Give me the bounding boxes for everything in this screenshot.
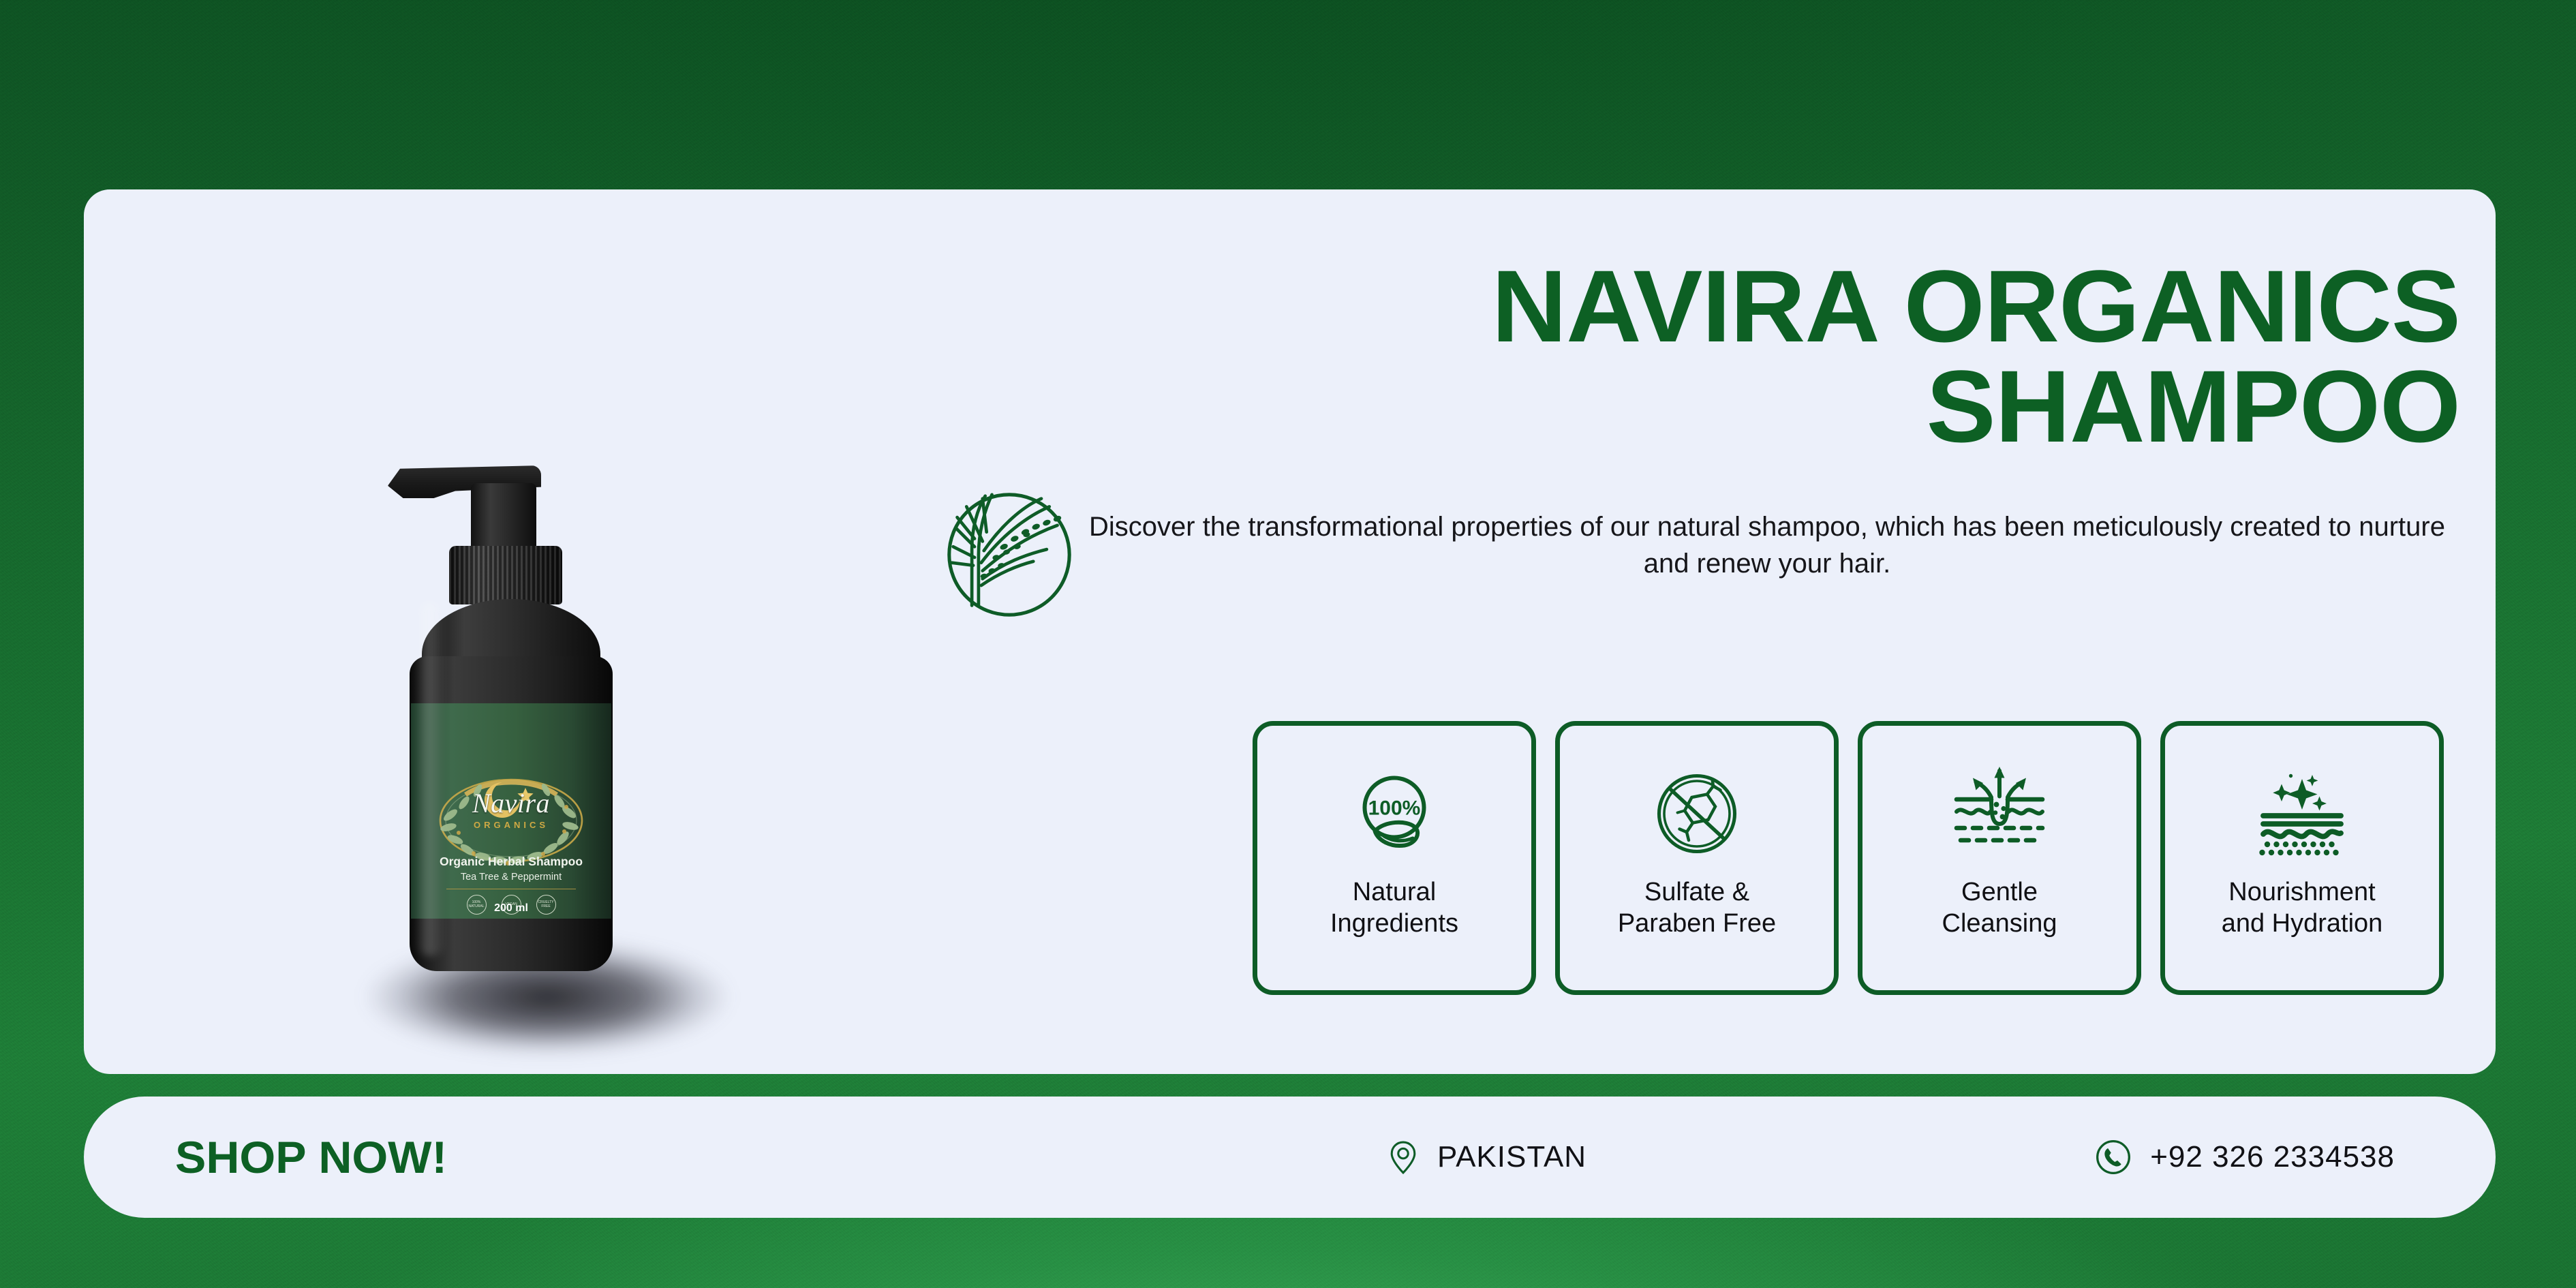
no-chemicals-molecule-icon: [1646, 763, 1748, 865]
feature-card-nourishment-hydration[interactable]: Nourishmentand Hydration: [2160, 721, 2444, 995]
product-bottle-image: Navira ORGANICS Organic Herbal Shampoo T…: [392, 465, 630, 973]
page-title: NAVIRA ORGANICS SHAMPOO: [885, 256, 2472, 457]
hundred-percent-leaf-icon: 100%: [1343, 763, 1445, 865]
hydration-sparkle-skin-icon: [2251, 763, 2353, 865]
shop-now-button[interactable]: SHOP NOW!: [175, 1131, 447, 1183]
title-line-2: SHAMPOO: [853, 356, 2460, 457]
feature-card-gentle-cleansing[interactable]: GentleCleansing: [1858, 721, 2141, 995]
feature-label: Sulfate &Paraben Free: [1618, 877, 1776, 939]
phone-circle-icon: [2094, 1138, 2132, 1176]
bottle-highlight: [415, 602, 445, 956]
bottle-collar: [449, 546, 562, 604]
phone-info[interactable]: +92 326 2334538: [2094, 1138, 2395, 1176]
location-label: PAKISTAN: [1437, 1140, 1586, 1174]
bottle-label-divider: [446, 889, 576, 889]
botanical-circle-icon: [942, 488, 1076, 622]
pore-cleansing-skin-icon: [1948, 763, 2051, 865]
feature-list: 100% NaturalIngredients: [1253, 721, 2472, 995]
location-pin-icon: [1384, 1138, 1422, 1176]
footer-bar: SHOP NOW! PAKISTAN +92 326 2334538: [84, 1097, 2496, 1218]
feature-label: Nourishmentand Hydration: [2222, 877, 2383, 939]
product-image-area: Navira ORGANICS Organic Herbal Shampoo T…: [111, 224, 881, 1041]
feature-card-sulfate-paraben-free[interactable]: Sulfate &Paraben Free: [1555, 721, 1839, 995]
percent-label: 100%: [1368, 797, 1421, 820]
phone-number: +92 326 2334538: [2150, 1140, 2395, 1174]
content-area: NAVIRA ORGANICS SHAMPOO: [885, 189, 2472, 1074]
title-line-1: NAVIRA ORGANICS: [853, 256, 2460, 356]
feature-label: NaturalIngredients: [1330, 877, 1458, 939]
location-info: PAKISTAN: [1384, 1138, 1586, 1176]
main-content-card: Navira ORGANICS Organic Herbal Shampoo T…: [84, 189, 2496, 1074]
feature-label: GentleCleansing: [1942, 877, 2057, 939]
promotional-banner: Navira ORGANICS Organic Herbal Shampoo T…: [0, 0, 2576, 1288]
feature-card-natural-ingredients[interactable]: 100% NaturalIngredients: [1253, 721, 1536, 995]
hero-description: Discover the transformational properties…: [1089, 508, 2445, 583]
